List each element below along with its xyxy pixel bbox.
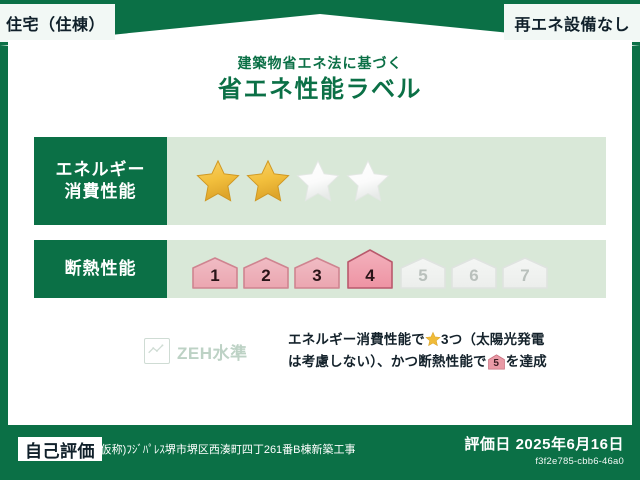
house-level-value: 2 <box>242 266 290 286</box>
energy-consumption-label-line2: 消費性能 <box>56 181 146 203</box>
house-badge-value: 5 <box>487 358 506 370</box>
energy-consumption-row: エネルギー 消費性能 <box>34 137 606 225</box>
zeh-note-row: ZEH水準 エネルギー消費性能で3つ（太陽光発電 は考慮しない）、かつ断熱性能で… <box>34 320 606 382</box>
house-level-value: 6 <box>450 266 498 286</box>
energy-performance-label: 住宅（住棟） 再エネ設備なし 建築物省エネ法に基づく 省エネ性能ラベル エネルギ… <box>0 0 640 480</box>
house-level-off: 7 <box>501 256 549 290</box>
house-badge-icon: 5 <box>487 354 506 370</box>
building-type-tag-label: 住宅（住棟） <box>6 11 105 35</box>
page-title: 省エネ性能ラベル <box>8 74 632 106</box>
house-level-value: 4 <box>344 266 396 286</box>
evaluation-date-label: 評価日 <box>464 436 511 453</box>
evaluation-date: 評価日 2025年6月16日 <box>464 433 624 454</box>
house-level-off: 5 <box>399 256 447 290</box>
achievement-note-line2-post: を達成 <box>506 354 547 369</box>
star-icon <box>425 331 441 347</box>
house-level-value: 5 <box>399 266 447 286</box>
house-level-on: 1 <box>191 256 239 290</box>
insulation-performance-value: 1234567 <box>167 240 606 298</box>
insulation-performance-label: 断熱性能 <box>34 240 167 298</box>
zeh-standard-label: ZEH水準 <box>177 339 248 364</box>
insulation-performance-row: 断熱性能 1234567 <box>34 240 606 298</box>
house-rating-scale: 1234567 <box>167 248 549 290</box>
label-footer: 自己評価 (仮称)ﾌｼﾞﾊﾟﾚｽ堺市堺区西湊町四丁261番B棟新築工事 評価日 … <box>0 425 640 480</box>
star-filled-icon <box>195 158 241 204</box>
self-evaluation-badge: 自己評価 <box>18 437 102 461</box>
label-body: 建築物省エネ法に基づく 省エネ性能ラベル エネルギー 消費性能 断熱性能 123… <box>8 40 632 425</box>
star-filled-icon <box>245 158 291 204</box>
renewable-equipment-tag: 再エネ設備なし <box>504 4 640 42</box>
insulation-performance-label-text: 断熱性能 <box>65 258 137 280</box>
star-empty-icon <box>295 158 341 204</box>
evaluation-id: f3f2e785-cbb6-46a0 <box>464 456 624 467</box>
building-name: (仮称)ﾌｼﾞﾊﾟﾚｽ堺市堺区西湊町四丁261番B棟新築工事 <box>97 441 356 457</box>
evaluation-date-value: 2025年6月16日 <box>516 436 624 453</box>
achievement-note-line1-pre: エネルギー消費性能で <box>288 332 425 347</box>
energy-consumption-value <box>167 137 606 225</box>
house-level-on: 4 <box>344 248 396 290</box>
energy-consumption-label: エネルギー 消費性能 <box>34 137 167 225</box>
evaluation-info: 評価日 2025年6月16日 f3f2e785-cbb6-46a0 <box>464 433 624 467</box>
self-evaluation-label: 自己評価 <box>25 437 95 462</box>
star-rating <box>167 158 391 204</box>
achievement-note-line2-pre: は考慮しない）、かつ断熱性能で <box>288 354 487 369</box>
energy-consumption-label-line1: エネルギー <box>56 159 146 181</box>
house-level-value: 7 <box>501 266 549 286</box>
house-level-value: 3 <box>293 266 341 286</box>
title-subtitle: 建築物省エネ法に基づく <box>8 54 632 72</box>
house-level-on: 3 <box>293 256 341 290</box>
title-block: 建築物省エネ法に基づく 省エネ性能ラベル <box>8 54 632 106</box>
renewable-equipment-tag-label: 再エネ設備なし <box>514 11 630 35</box>
zeh-standard-badge: ZEH水準 <box>34 338 264 364</box>
achievement-note: エネルギー消費性能で3つ（太陽光発電 は考慮しない）、かつ断熱性能で5を達成 <box>264 329 606 373</box>
house-level-off: 6 <box>450 256 498 290</box>
zeh-check-icon <box>144 338 170 364</box>
achievement-note-line1: エネルギー消費性能で3つ（太陽光発電 <box>288 329 606 351</box>
achievement-note-line2: は考慮しない）、かつ断熱性能で5を達成 <box>288 351 606 373</box>
house-level-on: 2 <box>242 256 290 290</box>
house-level-value: 1 <box>191 266 239 286</box>
achievement-note-line1-post: 3つ（太陽光発電 <box>441 332 545 347</box>
building-type-tag: 住宅（住棟） <box>0 4 115 42</box>
star-empty-icon <box>345 158 391 204</box>
